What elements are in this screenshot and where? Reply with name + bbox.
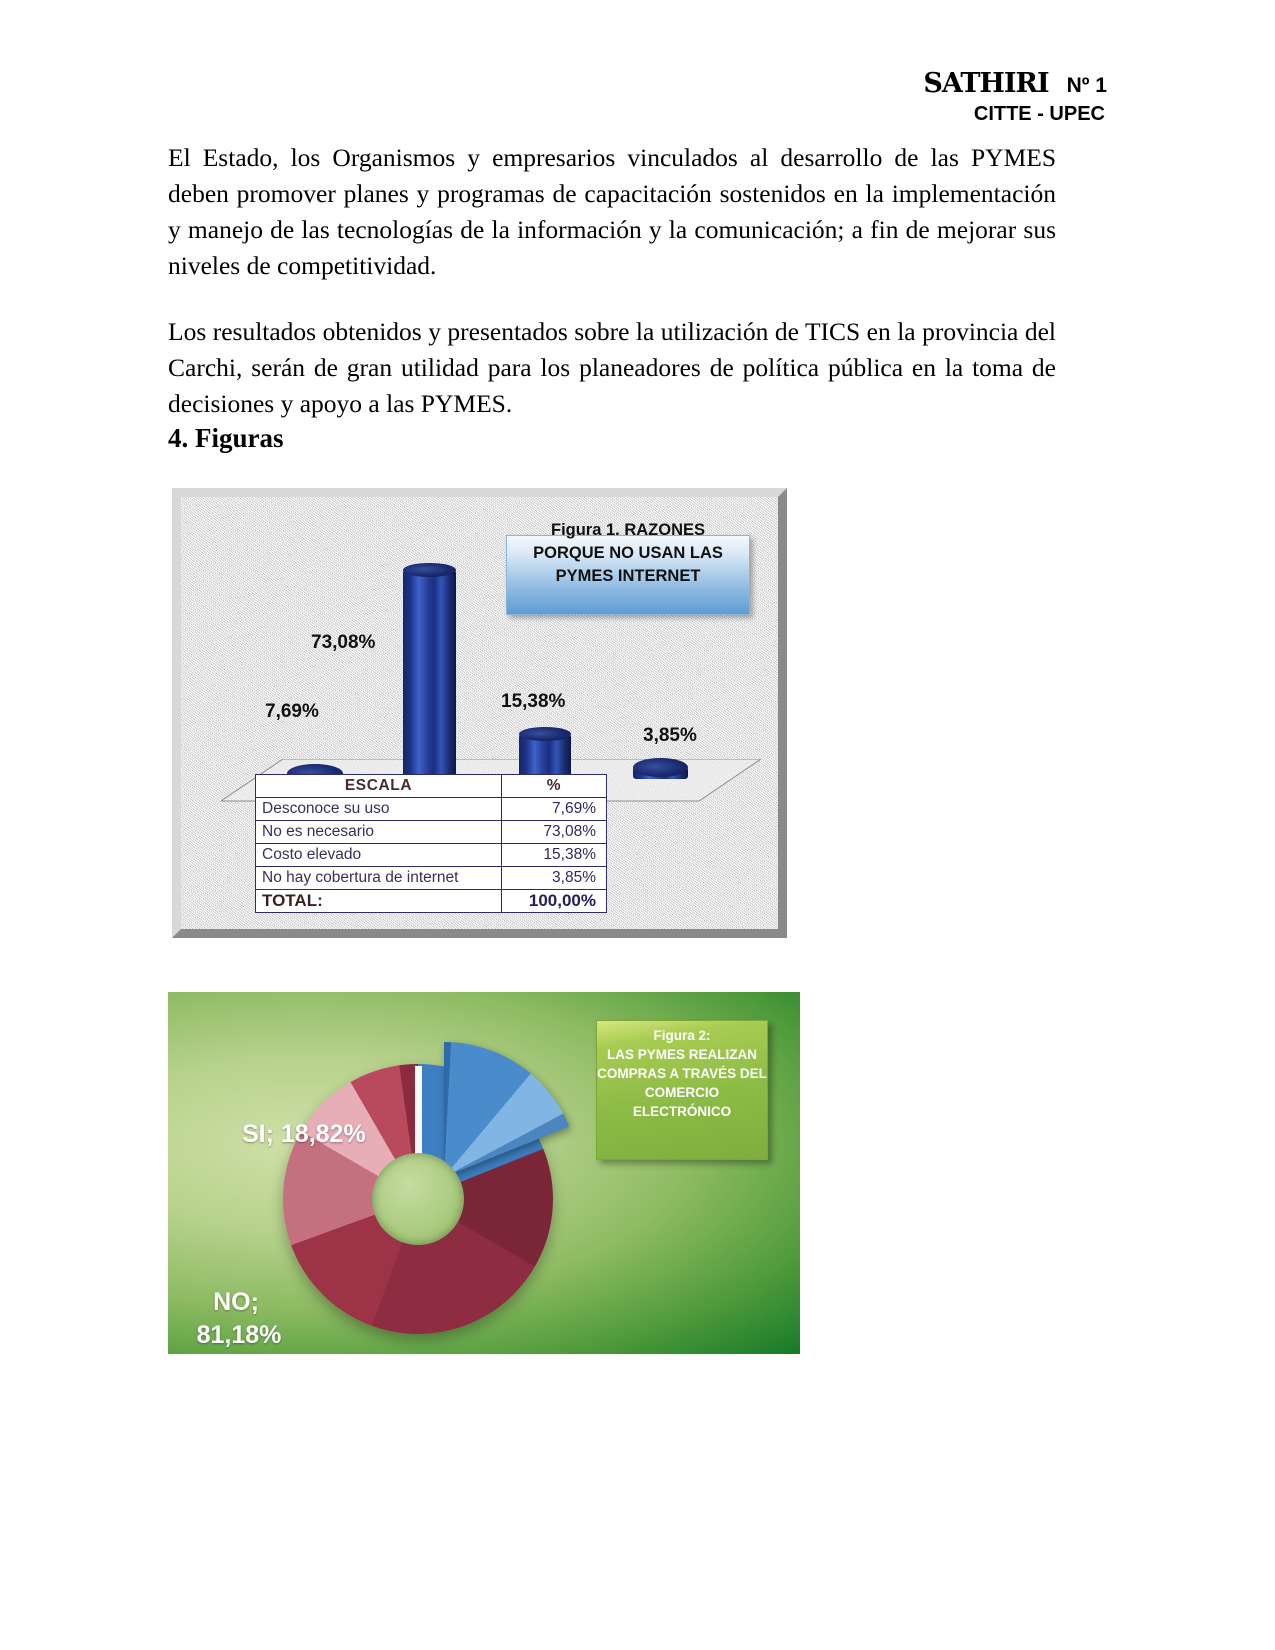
cell-total-percent: 100,00% [502,890,607,913]
figure-2-title-text: Figura 2: LAS PYMES REALIZAN COMPRAS A T… [596,1026,768,1121]
cell-escala: No es necesario [256,821,502,844]
cell-escala: Desconoce su uso [256,798,502,821]
cell-percent: 73,08% [502,821,607,844]
donut-label-no-percent: 81,18% [182,1319,296,1352]
donut-label-si: SI; 18,82% [242,1120,366,1149]
affiliation: CITTE - UPEC [923,103,1105,126]
column-header-percent: % [502,775,607,798]
bar-body [403,570,456,779]
issue-number: Nº 1 [1067,74,1107,97]
body-text-column: El Estado, los Organismos y empresarios … [168,140,1056,422]
figure-2-title-line-4: COMERCIO ELECTRÓNICO [596,1083,768,1121]
figure-1-title-text: Figura 1. RAZONES PORQUE NO USAN LAS PYM… [503,519,753,588]
journal-name: SATHIRI [923,68,1048,99]
figure-1-bar-chart: Figura 1. RAZONES PORQUE NO USAN LAS PYM… [172,488,787,938]
figure-1-title-line-2: PORQUE NO USAN LAS [503,542,753,565]
cell-percent: 7,69% [502,798,607,821]
table-row: Desconoce su uso 7,69% [256,798,607,821]
figure-2-title-line-1: Figura 2: [596,1026,768,1045]
figure-2-title-line-3: COMPRAS A TRAVÉS DEL [596,1064,768,1083]
section-heading-figuras: 4. Figuras [168,423,284,454]
donut-center-hole [372,1153,464,1245]
figure-1-data-table: ESCALA % Desconoce su uso 7,69% No es ne… [255,774,607,913]
bar-costo-elevado [519,734,571,777]
donut-graphic [283,1064,553,1334]
bar-cap [519,727,571,741]
cell-percent: 15,38% [502,844,607,867]
cell-escala: No hay cobertura de internet [256,867,502,890]
donut-label-no: NO; 81,18% [176,1286,296,1352]
table-row: Costo elevado 15,38% [256,844,607,867]
table-header-row: ESCALA % [256,775,607,798]
column-header-escala: ESCALA [256,775,502,798]
bar-label-desconoce: 7,69% [265,701,319,723]
bar-no-hay-cobertura [633,767,688,779]
bar-label-no-hay-cobertura: 3,85% [643,725,697,747]
figure-1-title-line-3: PYMES INTERNET [503,565,753,588]
header-title-line: SATHIRINº 1 [923,68,1107,99]
figure-2-title-line-2: LAS PYMES REALIZAN [596,1045,768,1064]
figure-1-title-line-1: Figura 1. RAZONES [503,519,753,542]
table-total-row: TOTAL: 100,00% [256,890,607,913]
bar-cap [633,758,688,777]
bar-label-costo-elevado: 15,38% [501,691,565,713]
bar-label-no-es-necesario: 73,08% [311,632,375,654]
table-row: No hay cobertura de internet 3,85% [256,867,607,890]
paragraph-2: Los resultados obtenidos y presentados s… [168,314,1056,422]
table-row: No es necesario 73,08% [256,821,607,844]
cell-total-label: TOTAL: [256,890,502,913]
bar-no-es-necesario [403,570,456,779]
paragraph-1: El Estado, los Organismos y empresarios … [168,140,1056,284]
cell-escala: Costo elevado [256,844,502,867]
cell-percent: 3,85% [502,867,607,890]
document-header: SATHIRINº 1 CITTE - UPEC [923,68,1107,126]
donut-label-no-text: NO; [213,1288,259,1316]
bar-cap [403,563,456,577]
